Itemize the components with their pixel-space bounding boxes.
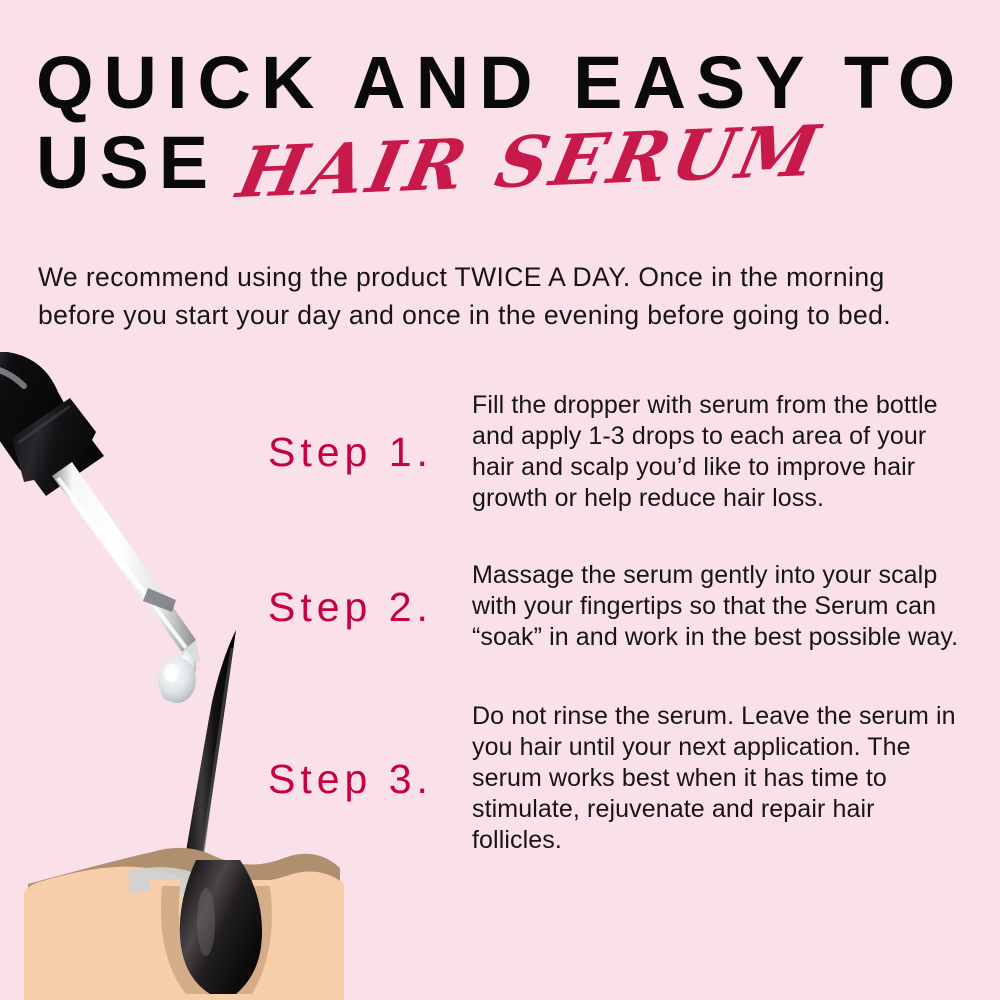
subtitle-text: We recommend using the product TWICE A D… [38, 258, 966, 334]
hair-follicle-icon [148, 860, 284, 1000]
skin-cross-section-icon [23, 848, 344, 1000]
headline-line-2: USE HAIR SERUM [36, 124, 966, 202]
step-text-1: Fill the dropper with serum from the bot… [468, 390, 968, 514]
step-item: Step 1. Fill the dropper with serum from… [268, 390, 968, 514]
step-label-2: Step 2. [268, 584, 468, 630]
steps-list: Step 1. Fill the dropper with serum from… [268, 390, 968, 856]
headline-use-word: USE [36, 124, 218, 202]
serum-droplet-icon [158, 650, 196, 703]
step-text-3: Do not rinse the serum. Leave the serum … [468, 701, 968, 856]
hair-shaft-icon [178, 630, 236, 900]
step-label-1: Step 1. [268, 429, 468, 475]
infographic-page: QUICK AND EASY TO USE HAIR SERUM We reco… [0, 0, 1000, 1000]
dropper-bulb-icon [0, 352, 78, 470]
step-label-3: Step 3. [268, 756, 468, 802]
step-text-2: Massage the serum gently into your scalp… [468, 560, 968, 653]
headline: QUICK AND EASY TO USE HAIR SERUM [36, 44, 966, 202]
dropper-glass-tube-icon [52, 462, 200, 666]
dropper-cap-icon [12, 398, 104, 496]
headline-script-word: HAIR SERUM [232, 116, 828, 208]
step-item: Step 2. Massage the serum gently into yo… [268, 560, 968, 653]
step-item: Step 3. Do not rinse the serum. Leave th… [268, 701, 968, 856]
